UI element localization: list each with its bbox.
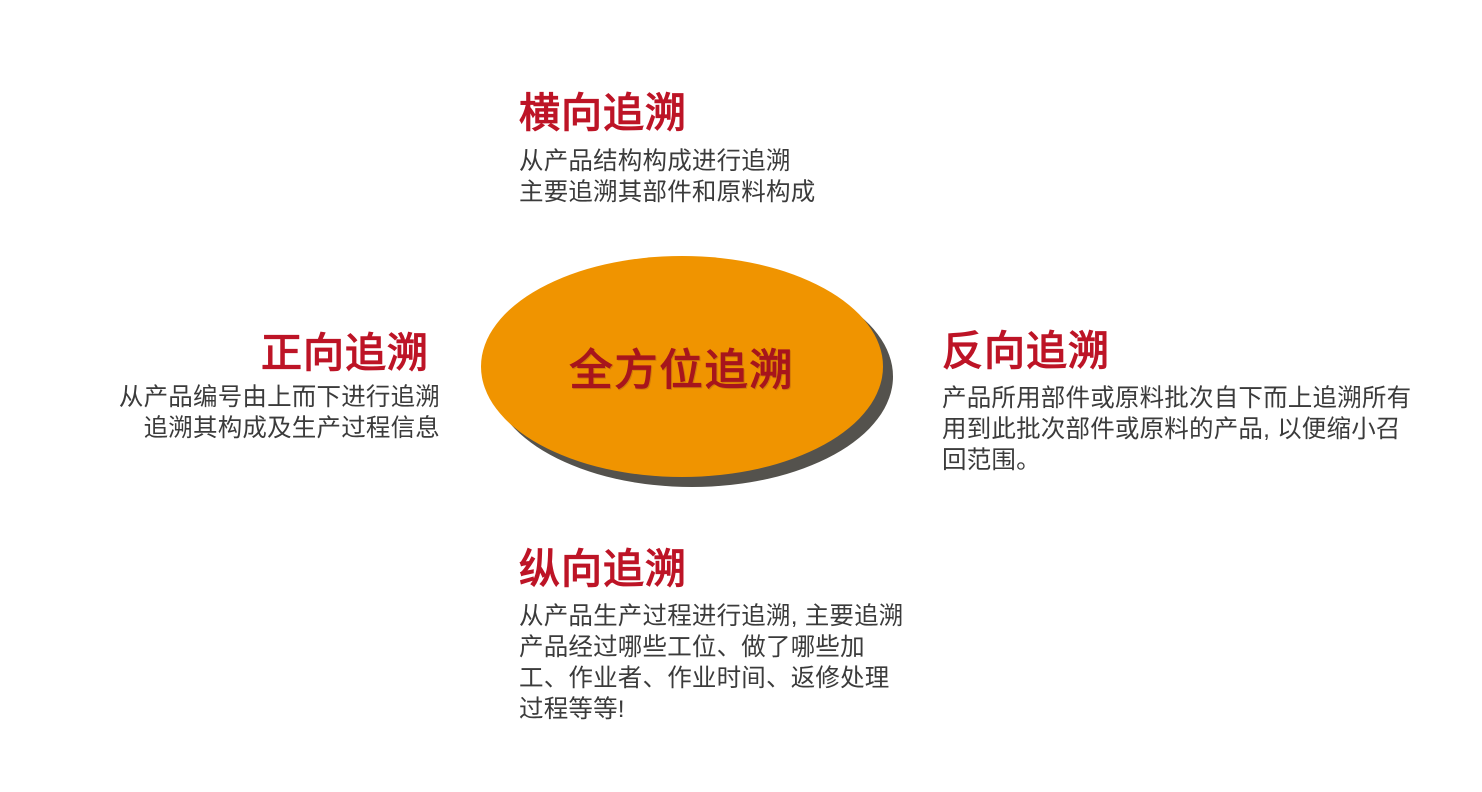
center-node: 全方位追溯: [481, 256, 893, 488]
branch-body-vertical: 从产品生产过程进行追溯, 主要追溯产品经过哪些工位、做了哪些加工、作业者、作业时…: [519, 601, 909, 725]
branch-heading-forward: 正向追溯: [261, 330, 429, 376]
branch-body-reverse: 产品所用部件或原料批次自下而上追溯所有用到此批次部件或原料的产品, 以便缩小召回…: [942, 383, 1422, 476]
branch-body-horizontal: 从产品结构构成进行追溯 主要追溯其部件和原料构成: [519, 146, 815, 208]
traceability-diagram: 横向追溯 从产品结构构成进行追溯 主要追溯其部件和原料构成 正向追溯 从产品编号…: [0, 0, 1482, 792]
branch-body-forward: 从产品编号由上而下进行追溯 追溯其构成及生产过程信息: [78, 382, 440, 444]
branch-heading-horizontal: 横向追溯: [519, 90, 687, 136]
branch-heading-vertical: 纵向追溯: [519, 546, 687, 592]
center-node-label: 全方位追溯: [481, 256, 883, 477]
branch-heading-reverse: 反向追溯: [942, 328, 1110, 374]
